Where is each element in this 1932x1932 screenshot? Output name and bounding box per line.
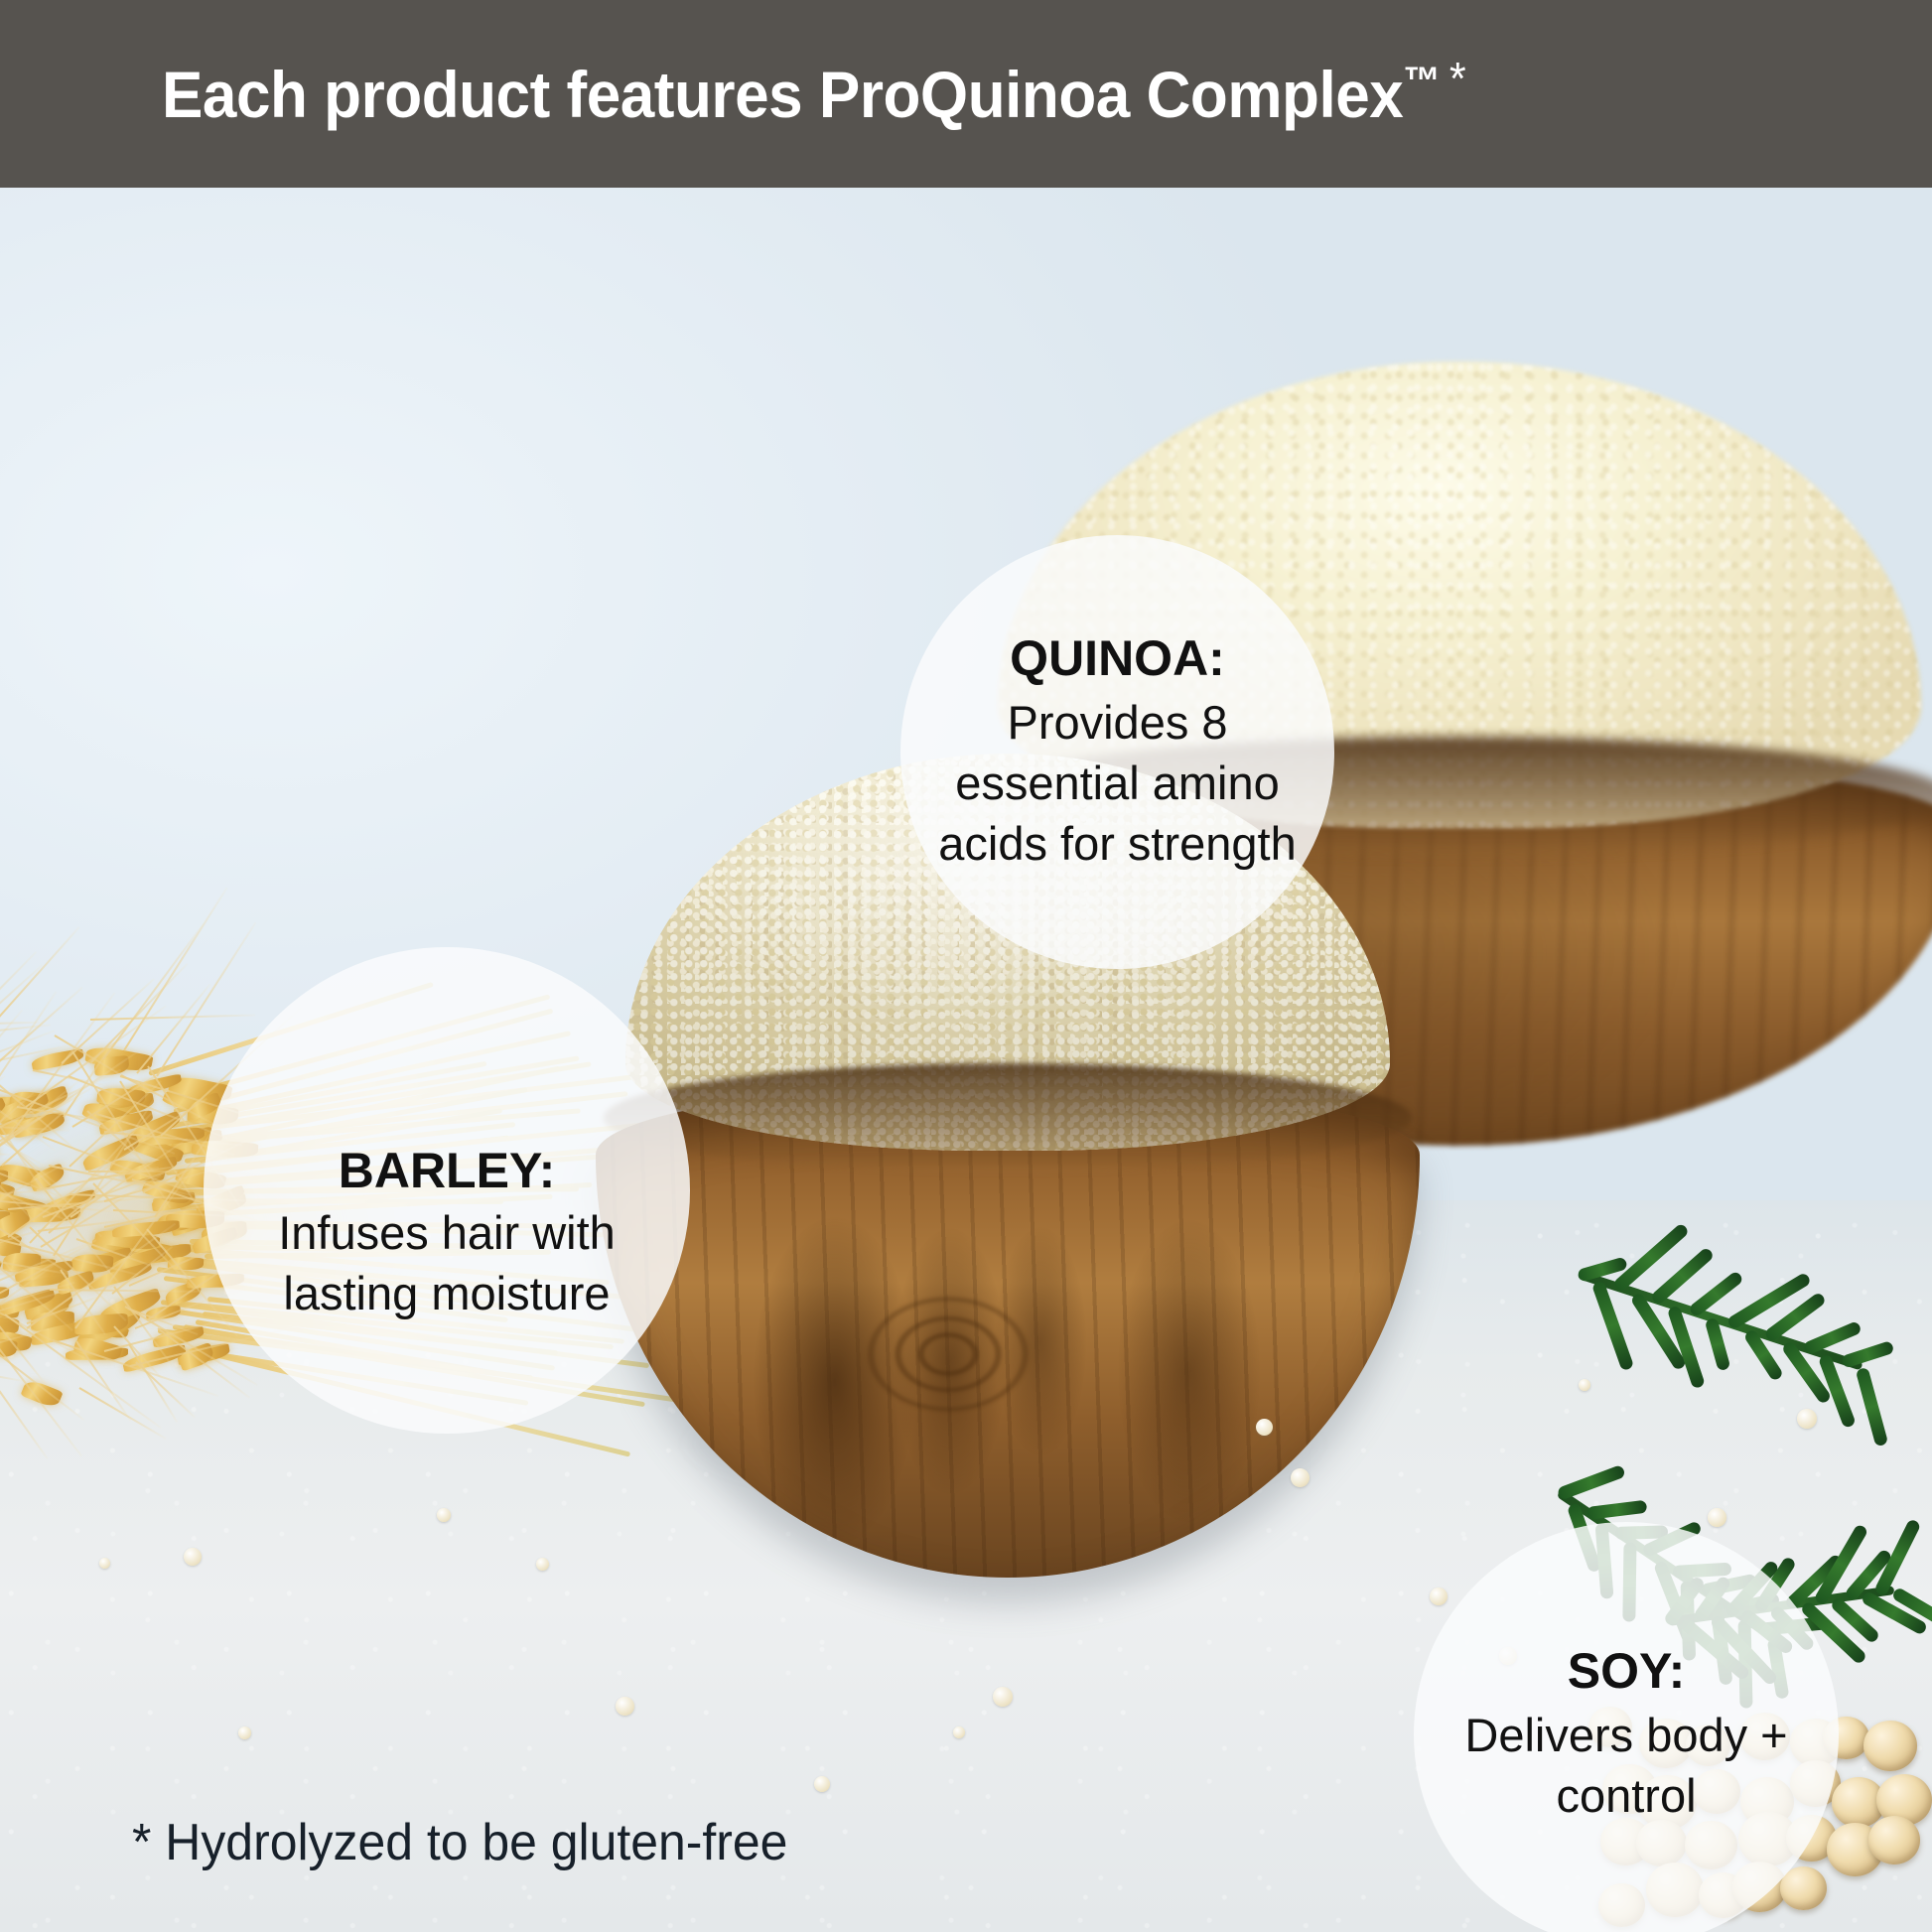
page-title-text: Each product features ProQuinoa Complex	[162, 58, 1403, 131]
quinoa-speck	[1579, 1379, 1590, 1391]
quinoa-speck	[99, 1558, 110, 1569]
trademark-symbol: ™	[1403, 60, 1440, 103]
product-ingredients-photo: QUINOA: Provides 8 essential amino acids…	[0, 188, 1932, 1932]
callout-soy-title: SOY:	[1568, 1643, 1686, 1699]
quinoa-speck	[437, 1508, 451, 1522]
callout-barley-title: BARLEY:	[339, 1143, 556, 1198]
promo-infographic: Each product features ProQuinoa Complex™…	[0, 0, 1932, 1932]
quinoa-speck	[1291, 1468, 1310, 1487]
callout-quinoa[interactable]: QUINOA: Provides 8 essential amino acids…	[900, 535, 1334, 969]
asterisk-marker: *	[1449, 53, 1465, 104]
quinoa-speck	[238, 1726, 251, 1739]
quinoa-speck	[616, 1697, 634, 1716]
quinoa-speck	[1797, 1409, 1817, 1429]
quinoa-speck	[536, 1558, 549, 1571]
quinoa-speck	[184, 1548, 202, 1566]
header-bar: Each product features ProQuinoa Complex™…	[0, 0, 1932, 188]
quinoa-speck	[1256, 1419, 1273, 1436]
callout-soy-body: Delivers body + control	[1442, 1705, 1811, 1826]
quinoa-speck	[814, 1776, 830, 1792]
callout-barley[interactable]: BARLEY: Infuses hair with lasting moistu…	[204, 947, 690, 1434]
footnote: * Hydrolyzed to be gluten-free	[132, 1813, 787, 1872]
quinoa-speck	[993, 1687, 1013, 1707]
callout-quinoa-title: QUINOA:	[1010, 630, 1225, 686]
callout-soy[interactable]: SOY: Delivers body + control	[1414, 1522, 1839, 1932]
callout-barley-body: Infuses hair with lasting moisture	[219, 1202, 674, 1323]
wheat-awn	[103, 923, 205, 1059]
quinoa-speck	[1708, 1508, 1726, 1527]
front-bowl-rim	[604, 1063, 1412, 1173]
callout-quinoa-body: Provides 8 essential amino acids for str…	[934, 692, 1301, 874]
page-title: Each product features ProQuinoa Complex™…	[162, 57, 1465, 132]
quinoa-speck	[953, 1726, 965, 1738]
quinoa-speck	[1430, 1587, 1448, 1605]
